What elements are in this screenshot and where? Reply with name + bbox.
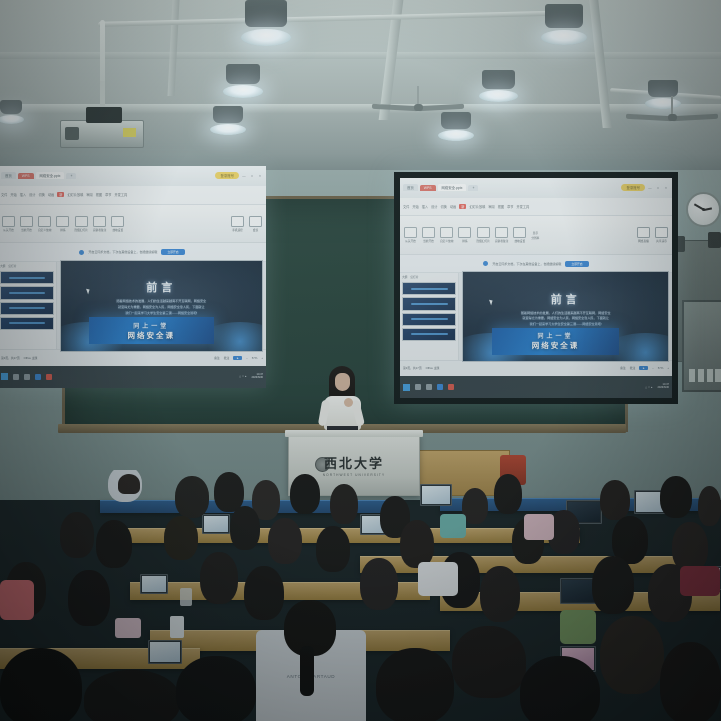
student: [230, 506, 260, 550]
student: [96, 520, 132, 568]
slide-stage: 前言 随着网络技术的发展，人们的生活越来越离不开互联网，网络安全 就变得尤为重要…: [459, 273, 672, 359]
maximize-button[interactable]: □: [249, 174, 255, 178]
laptop[interactable]: [202, 514, 230, 534]
student: [400, 520, 434, 568]
slide-thumbnail[interactable]: [402, 297, 456, 310]
slide-thumbnail-panel: 大纲 幻灯片: [0, 262, 57, 349]
hide-slide-icon: [75, 216, 88, 227]
student: [330, 484, 358, 524]
presenter-notes-icon: [93, 216, 106, 227]
student-clothing: [680, 566, 720, 596]
editor-body: 大纲 幻灯片 前言 随着网络技术的发展，人们的生活: [400, 273, 672, 359]
pendant-lamp: [0, 100, 22, 120]
ribbon-show-settings[interactable]: 放映设置: [111, 216, 124, 232]
share-icon: [655, 227, 668, 238]
menu-item-file[interactable]: 文件: [403, 204, 409, 209]
task-view-icon[interactable]: [24, 374, 30, 380]
wps-icon[interactable]: [448, 384, 454, 390]
presentation-window-left: 首页 WPS 网络安全.pptx + 登录账号 — □ × 文件 开始 插入 设…: [0, 166, 266, 388]
menu-item-transition[interactable]: 切换: [39, 192, 45, 197]
account-button[interactable]: 登录账号: [621, 184, 645, 191]
presenter-face: [335, 373, 350, 391]
student: [200, 552, 238, 604]
laptop[interactable]: [148, 640, 182, 664]
student-clothing: [0, 580, 34, 620]
ceiling-projector: [60, 120, 144, 148]
audience-area: ANTONIN ARTAUD: [0, 470, 721, 721]
play-slideshow-button[interactable]: ►: [639, 366, 648, 370]
notes-button[interactable]: 备注: [214, 356, 220, 360]
tab-document[interactable]: 网络安全.pptx: [438, 184, 467, 191]
ribbon-custom-show[interactable]: 自定义放映: [38, 216, 51, 232]
electrical-panel[interactable]: [682, 300, 721, 392]
tab-wps[interactable]: WPS: [18, 173, 34, 179]
browser-icon[interactable]: [35, 374, 41, 380]
student: [60, 512, 94, 558]
menu-item-section[interactable]: 章节: [105, 192, 111, 197]
theme-label[interactable]: Office 主题: [24, 356, 38, 360]
menu-item-design[interactable]: 设计: [29, 192, 35, 197]
search-icon[interactable]: [415, 384, 421, 390]
editor-body: 大纲 幻灯片 前言 随着网络技术的发展，人们的生活: [0, 262, 266, 349]
menu-hot-badge: 新: [57, 192, 64, 197]
account-button[interactable]: 登录账号: [215, 172, 239, 179]
play-from-current-icon: [20, 216, 33, 227]
student: [268, 518, 302, 564]
student: [68, 570, 110, 626]
menu-item-devtools[interactable]: 开发工具: [115, 192, 128, 197]
ribbon-meeting[interactable]: 会议: [249, 216, 262, 232]
student: [600, 616, 664, 694]
ceiling: [0, 0, 721, 175]
zoom-level: 57%: [658, 366, 664, 370]
maximize-button[interactable]: □: [655, 186, 661, 190]
pendant-lamp: [545, 4, 583, 38]
ribbon-presenter-notes[interactable]: 演讲者备注: [495, 227, 508, 243]
custom-show-icon: [440, 227, 453, 238]
thumbnail-tabs: 大纲 幻灯片: [0, 264, 54, 269]
rehearse-icon: [56, 216, 69, 227]
pendant-lamp: [226, 64, 260, 92]
tab-slides[interactable]: 幻灯片: [8, 264, 16, 268]
student-clothing: [440, 514, 466, 538]
slide-banner: 同上一堂 网络安全课: [89, 317, 214, 344]
slide-thumbnail[interactable]: [402, 313, 456, 326]
student: [480, 566, 520, 622]
comments-button[interactable]: 批注: [630, 366, 636, 370]
ribbon-show-settings[interactable]: 放映设置: [513, 227, 526, 243]
student: [520, 656, 600, 721]
pendant-lamp: [213, 106, 243, 130]
ribbon-from-start[interactable]: 从头开始: [404, 227, 417, 243]
menu-item-insert[interactable]: 插入: [422, 204, 428, 209]
student: [164, 516, 198, 560]
projection-screen-left: 首页 WPS 网络安全.pptx + 登录账号 — □ × 文件 开始 插入 设…: [0, 166, 266, 388]
tip-text: 开启云同步文档，下次在其他设备上，也能继续编辑: [492, 262, 561, 266]
slide-title: 前言: [551, 291, 581, 307]
ceiling-fan: [370, 86, 466, 122]
close-button[interactable]: ×: [257, 174, 263, 178]
phone-remote-icon: [231, 216, 244, 227]
ribbon-presenter-notes[interactable]: 演讲者备注: [93, 216, 106, 232]
menu-item-start[interactable]: 开始: [412, 204, 418, 209]
student: [290, 474, 320, 514]
browser-icon[interactable]: [437, 384, 443, 390]
ribbon-phone-remote[interactable]: 手机遥控: [231, 216, 244, 232]
ribbon: 从头开始 当前开始 自定义放映 排练 隐藏幻灯片 演讲者备注 放映设置 显示分辨…: [400, 216, 672, 254]
menu-item-start[interactable]: 开始: [10, 192, 16, 197]
mouse-cursor-icon: [86, 287, 91, 294]
student: [660, 476, 692, 518]
student: [176, 656, 256, 721]
zoom-level: 57%: [252, 356, 258, 360]
student: [600, 480, 630, 520]
tab-outline[interactable]: 大纲: [402, 275, 407, 279]
pendant-lamp: [482, 70, 515, 96]
taskbar-clock[interactable]: 14:47 2023/6/30: [251, 374, 263, 380]
ribbon-from-current[interactable]: 当前开始: [20, 216, 33, 232]
presenter-hand: [344, 398, 353, 407]
presentation-window-right: 首页 WPS 网络安全.pptx + 登录账号 — □ × 文件 开始 插入 设…: [400, 178, 672, 398]
menu-item-section[interactable]: 章节: [507, 204, 513, 209]
student: [360, 558, 398, 610]
slide-thumbnail[interactable]: [402, 282, 456, 295]
podium-top: [285, 430, 423, 437]
hide-slide-icon: [477, 227, 490, 238]
zoom-out-button[interactable]: −: [652, 366, 654, 370]
zoom-out-button[interactable]: −: [246, 356, 248, 360]
start-button-icon[interactable]: [403, 384, 410, 391]
menu-item-animation[interactable]: 动画: [48, 192, 54, 197]
student-clothing: [418, 562, 458, 596]
menu-item-transition[interactable]: 切换: [441, 204, 447, 209]
ribbon-phone-remote[interactable]: 网络直播: [637, 227, 650, 243]
menu-item-devtools[interactable]: 开发工具: [517, 204, 530, 209]
play-from-start-icon: [2, 216, 15, 227]
info-icon: [483, 261, 488, 266]
menu-item-insert[interactable]: 插入: [20, 192, 26, 197]
slide-thumbnail[interactable]: [0, 271, 54, 284]
current-slide[interactable]: 前言 随着网络技术的发展，人们的生活越来越离不开互联网，网络安全 就变得尤为重要…: [462, 271, 669, 362]
ribbon-custom-show[interactable]: 自定义放映: [440, 227, 453, 243]
slide-indicator: 第3页，共17页: [1, 356, 20, 360]
rehearse-icon: [458, 227, 471, 238]
slide-thumbnail-panel: 大纲 幻灯片: [400, 273, 459, 359]
system-tray[interactable]: △ ☆ ●: [645, 386, 652, 389]
ribbon-from-current[interactable]: 当前开始: [422, 227, 435, 243]
lecture-hall-photo: 首页 WPS 网络安全.pptx + 登录账号 — □ × 文件 开始 插入 设…: [0, 0, 721, 721]
theme-label[interactable]: Office 主题: [426, 366, 440, 370]
tab-home[interactable]: 首页: [1, 172, 16, 179]
system-tray[interactable]: △ ☆ ●: [239, 375, 246, 378]
titlebar: 首页 WPS 网络安全.pptx + 登录账号 — □ ×: [0, 166, 266, 186]
ponytail: [300, 646, 314, 696]
tab-home[interactable]: 首页: [403, 184, 418, 191]
student: [84, 670, 180, 721]
notes-button[interactable]: 备注: [620, 366, 626, 370]
windows-taskbar: △ ☆ ● 14:47 2023/6/30: [400, 376, 672, 398]
projection-screen-right: 首页 WPS 网络安全.pptx + 登录账号 — □ × 文件 开始 插入 设…: [394, 172, 678, 404]
play-from-start-icon: [404, 227, 417, 238]
student: [118, 474, 140, 494]
student: [244, 566, 284, 620]
info-icon: [79, 250, 84, 255]
current-slide[interactable]: 前言 随着网络技术的发展，人们的生活越来越离不开互联网，网络安全 就变得尤为重要…: [60, 260, 263, 352]
student: [660, 642, 721, 721]
minimize-button[interactable]: —: [647, 186, 653, 190]
menu-hot-badge: 新: [459, 204, 466, 209]
menu-item-slideshow[interactable]: 幻灯片放映: [67, 192, 83, 197]
banner-line-1: 同上一堂: [133, 321, 169, 330]
ceiling-beam-upper: [0, 52, 721, 59]
tip-action-button[interactable]: 立即开启: [161, 249, 184, 255]
student: [175, 476, 209, 518]
slide-body-text: 随着网络技术的发展，人们的生活越来越离不开互联网，网络安全 就变得尤为重要。网络…: [490, 311, 641, 328]
ribbon-rehearse[interactable]: 排练: [56, 216, 69, 232]
slide-thumbnail[interactable]: [402, 328, 456, 341]
menu-item-view[interactable]: 视图: [498, 204, 504, 209]
tab-outline[interactable]: 大纲: [0, 264, 5, 268]
ribbon-rehearse[interactable]: 排练: [458, 227, 471, 243]
student: [376, 648, 454, 721]
student: [452, 626, 526, 698]
menubar: 文件 开始 插入 设计 切换 动画 新 幻灯片放映 审阅 视图 章节 开发工具: [0, 186, 266, 205]
ribbon-hide-slide[interactable]: 隐藏幻灯片: [476, 227, 489, 243]
student: [494, 474, 522, 514]
settings-icon: [111, 216, 124, 227]
banner-line-2: 网络安全课: [532, 340, 580, 351]
student: [0, 648, 82, 721]
taskbar-clock[interactable]: 14:47 2023/6/30: [657, 384, 669, 390]
close-button[interactable]: ×: [663, 186, 669, 190]
ribbon-display-option[interactable]: 显示分辨率: [531, 231, 539, 240]
thumbnail-tabs: 大纲 幻灯片: [402, 275, 456, 280]
desk-item: [170, 616, 184, 638]
slide-indicator: 第3页，共17页: [403, 366, 422, 370]
settings-icon: [513, 227, 526, 238]
meeting-icon: [249, 216, 262, 227]
slide-thumbnail[interactable]: [0, 286, 54, 299]
ceiling-fan: [622, 96, 721, 132]
student: [316, 526, 350, 572]
zoom-in-button[interactable]: +: [261, 356, 263, 360]
wall-clock: [686, 192, 721, 227]
student-clothing: [524, 514, 554, 540]
tip-text: 开启云同步文档，下次在其他设备上，也能继续编辑: [88, 250, 157, 254]
phone-remote-icon: [637, 227, 650, 238]
slide-title: 前言: [146, 279, 176, 295]
new-tab-button[interactable]: +: [66, 173, 76, 179]
menu-item-view[interactable]: 视图: [96, 192, 102, 197]
menu-item-slideshow[interactable]: 幻灯片放映: [469, 204, 485, 209]
water-bottle: [180, 588, 192, 606]
ceiling-pipe-a: [98, 10, 578, 27]
mouse-cursor-icon: [489, 298, 494, 305]
play-from-current-icon: [422, 227, 435, 238]
student-clothing: [560, 610, 596, 644]
menu-item-review[interactable]: 审阅: [86, 192, 92, 197]
tab-slides[interactable]: 幻灯片: [410, 275, 418, 279]
desk-item: [115, 618, 141, 638]
ribbon-share[interactable]: 共享演示: [655, 227, 668, 243]
ceiling-beam-vertical-c: [167, 0, 179, 96]
ribbon-hide-slide[interactable]: 隐藏幻灯片: [74, 216, 87, 232]
minimize-button[interactable]: —: [241, 174, 247, 178]
menu-item-file[interactable]: 文件: [1, 192, 7, 197]
student: [592, 556, 634, 614]
slide-body-text: 随着网络技术的发展，人们的生活越来越离不开互联网，网络安全 就变得尤为重要。网络…: [87, 299, 236, 316]
task-view-icon[interactable]: [426, 384, 432, 390]
wps-icon[interactable]: [46, 374, 52, 380]
presenter-notes-icon: [495, 227, 508, 238]
comments-button[interactable]: 批注: [224, 356, 230, 360]
tab-wps[interactable]: WPS: [420, 185, 436, 191]
ribbon-from-start[interactable]: 从头开始: [2, 216, 15, 232]
student: [698, 486, 721, 526]
slide-banner: 同上一堂 网络安全课: [492, 328, 619, 355]
slide-thumbnail[interactable]: [0, 302, 54, 315]
ribbon: 从头开始 当前开始 自定义放映 排练 隐藏幻灯片 演讲者备注 放映设置 手机遥控…: [0, 205, 266, 244]
windows-taskbar: △ ☆ ● 14:47 2023/6/30: [0, 366, 266, 388]
laptop[interactable]: [140, 574, 168, 594]
titlebar: 首页 WPS 网络安全.pptx + 登录账号 — □ ×: [400, 178, 672, 198]
start-button-icon[interactable]: [1, 373, 8, 380]
menu-item-review[interactable]: 审阅: [488, 204, 494, 209]
zoom-in-button[interactable]: +: [667, 366, 669, 370]
custom-show-icon: [38, 216, 51, 227]
menu-item-design[interactable]: 设计: [431, 204, 437, 209]
search-icon[interactable]: [13, 374, 19, 380]
new-tab-button[interactable]: +: [468, 185, 478, 191]
slide-thumbnail[interactable]: [0, 317, 54, 330]
statusbar: 第3页，共17页 Office 主题 备注 批注 ► − 57% +: [0, 349, 266, 366]
banner-line-1: 同上一堂: [537, 331, 573, 340]
pendant-lamp: [245, 0, 287, 38]
play-slideshow-button[interactable]: ►: [233, 356, 242, 360]
laptop[interactable]: [420, 484, 452, 506]
slide-stage: 前言 随着网络技术的发展，人们的生活越来越离不开互联网，网络安全 就变得尤为重要…: [57, 262, 266, 349]
tab-document[interactable]: 网络安全.pptx: [36, 172, 65, 179]
tip-action-button[interactable]: 立即开启: [565, 261, 588, 267]
menubar: 文件 开始 插入 设计 切换 动画 新 幻灯片放映 审阅 视图 章节 开发工具: [400, 198, 672, 217]
menu-item-animation[interactable]: 动画: [450, 204, 456, 209]
banner-line-2: 网络安全课: [127, 330, 175, 341]
wall-speaker: [708, 232, 721, 248]
